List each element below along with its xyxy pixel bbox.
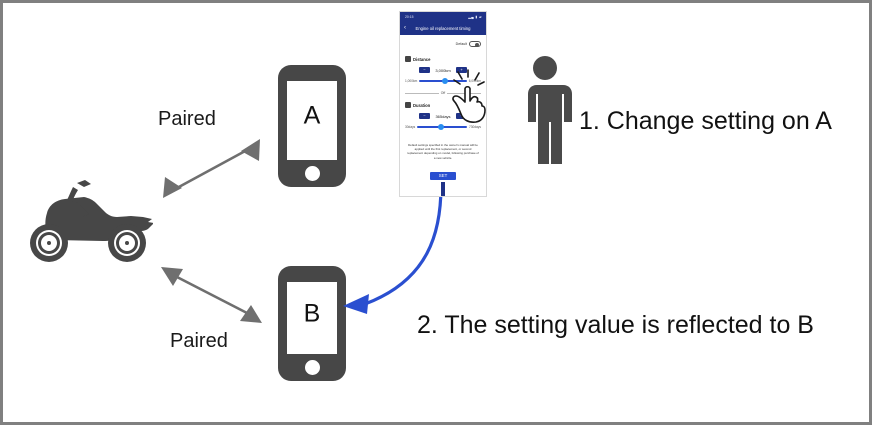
toggle-knob [475,43,479,47]
duration-section-header: Duration [405,102,430,108]
status-bar: 20:15 ▂▄ ▮ ▰ [400,12,486,22]
divider-line-left [405,93,439,94]
duration-value: 365days [435,114,451,119]
set-button[interactable]: SET [430,172,456,180]
distance-slider-knob[interactable] [442,78,448,84]
default-toggle-row[interactable]: Default [456,41,481,47]
off-label: Off [441,91,445,95]
status-bar-indicators: ▂▄ ▮ ▰ [468,12,482,22]
diagram-canvas: Paired Paired A B 1. Change setting on A… [0,0,872,425]
phone-a-home-button[interactable] [305,166,320,181]
phone-a[interactable]: A [278,65,346,187]
pointing-hand-icon [451,69,487,127]
duration-slider-knob[interactable] [438,124,444,130]
phone-b-screen: B [287,282,337,354]
motorcycle-icon [21,161,153,273]
double-headed-arrow-icon [143,255,279,331]
distance-section-header: Distance [405,56,430,62]
distance-slider-min: 1,000km [405,79,417,83]
default-label: Default [456,42,467,46]
paired-label-top: Paired [158,108,216,131]
double-headed-arrow-icon [143,131,279,205]
caption-step-1: 1. Change setting on A [579,107,832,136]
paired-label-bottom: Paired [170,330,228,353]
curved-arrow-icon [333,186,455,316]
app-bar-title: Engine oil replacement timing [400,26,486,31]
duration-minus-button[interactable]: − [419,113,430,119]
distance-label: Distance [413,57,430,62]
distance-icon [405,56,411,62]
phone-b-label: B [287,299,337,328]
app-bar: ‹ Engine oil replacement timing [400,22,486,35]
distance-value: 3,000km [435,68,451,73]
nav-bar-indicator [441,182,445,196]
caption-step-2: 2. The setting value is reflected to B [417,311,814,340]
phone-a-screen: A [287,81,337,160]
person-icon [511,55,579,167]
phone-b-home-button[interactable] [305,360,320,375]
phone-a-label: A [287,101,337,130]
distance-minus-button[interactable]: − [419,67,430,73]
default-toggle[interactable] [469,41,481,47]
duration-icon [405,102,411,108]
default-settings-note: Default settings specified in the owner'… [407,143,479,160]
status-bar-time: 20:15 [405,12,414,22]
duration-slider-min: 30days [405,125,415,129]
duration-label: Duration [413,103,430,108]
